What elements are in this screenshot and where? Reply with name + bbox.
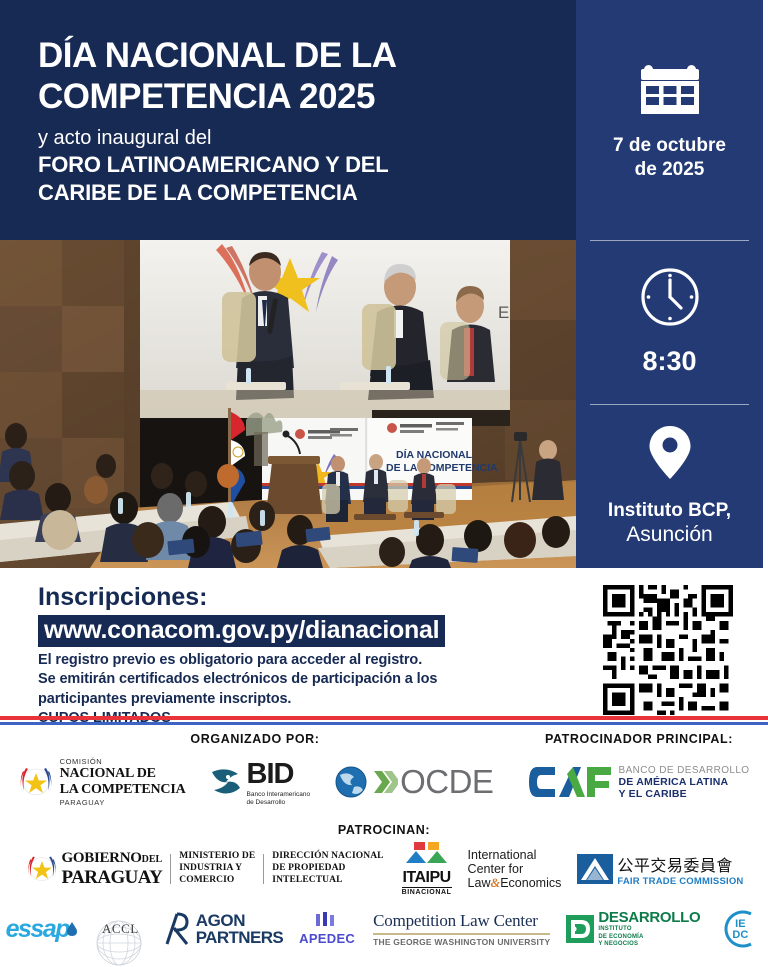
itaipu-sub-text: BINACIONAL: [402, 887, 452, 896]
caf-logo: BANCO DE DESARROLLO DE AMÉRICA LATINA Y …: [529, 762, 750, 802]
essap-main-text: essap: [6, 915, 69, 944]
info-time-value: 8:30: [642, 345, 696, 378]
accl-main-text: ACCL: [98, 921, 143, 937]
info-place-line1: Instituto BCP,: [608, 499, 731, 522]
flag-rule-blue: [0, 722, 768, 725]
conacom-emblem-icon: [17, 763, 55, 801]
agon-line1: AGON: [196, 912, 283, 929]
essap-logo: essap: [6, 915, 78, 944]
icle-line1: International: [468, 848, 562, 862]
itaipu-mark-icon: [404, 842, 450, 864]
iedc-line2: DC: [718, 930, 762, 941]
dinapi-logo: DIRECCIÓN NACIONAL DE PROPIEDAD INTELECT…: [272, 851, 383, 887]
bid-sub-line2: de Desarrollo: [247, 799, 311, 807]
info-time: 8:30: [576, 240, 763, 404]
info-date-line1: 7 de octubre: [613, 134, 726, 157]
gobierno-line1: GOBIERNO: [62, 850, 142, 866]
icle-line2: Center for: [468, 862, 562, 876]
bid-logo: BID Banco Interamericano de Desarrollo: [208, 758, 311, 806]
itaipu-logo: ITAIPU BINACIONAL: [402, 842, 452, 896]
bid-main-text: BID: [247, 758, 311, 791]
info-date-line2: de 2025: [635, 158, 705, 181]
conacom-line-small: COMISIÓN: [60, 757, 186, 766]
registration-body-line2: Se emitirán certificados electrónicos de…: [38, 670, 560, 689]
paraguay-emblem-icon: [25, 852, 59, 886]
subtitle-bold-line1: FORO LATINOAMERICANO Y DEL: [38, 151, 546, 179]
registration-body-line3: participantes previamente inscriptos.: [38, 690, 560, 709]
location-pin-icon: [647, 424, 693, 487]
registration-url[interactable]: www.conacom.gov.py/dianacional: [38, 615, 445, 648]
organized-by-heading: ORGANIZADO POR:: [0, 732, 510, 746]
ocde-logo: OCDE: [332, 763, 493, 801]
gobierno-line2: PARAGUAY: [62, 867, 163, 889]
agon-partners-logo: AGON PARTNERS: [161, 912, 283, 947]
subtitle-bold-line2: CARIBE DE LA COMPETENCIA: [38, 179, 546, 207]
jftc-en-text: FAIR TRADE COMMISSION: [617, 876, 743, 887]
desarrollo-mark-icon: [566, 915, 594, 943]
conacom-logo: COMISIÓN NACIONAL DE LA COMPETENCIA PARA…: [17, 757, 186, 807]
clc-line2: THE GEORGE WASHINGTON UNIVERSITY: [373, 933, 550, 947]
agon-mark-icon: [161, 912, 193, 946]
caf-line1: BANCO DE DESARROLLO: [619, 765, 750, 776]
info-place-line2: Asunción: [626, 522, 712, 548]
svg-text:DÍA NACIONAL: DÍA NACIONAL: [396, 448, 473, 461]
mic-logo: MINISTERIO DE INDUSTRIA Y COMERCIO: [179, 851, 255, 887]
dinapi-line1: DIRECCIÓN NACIONAL: [272, 851, 383, 863]
flag-rule-red: [0, 716, 768, 720]
gwu-competition-law-center-logo: Competition Law Center THE GEORGE WASHIN…: [373, 911, 550, 947]
sponsors-row-1: GOBIERNODEL PARAGUAY MINISTERIO DE INDUS…: [0, 841, 768, 897]
apedec-logo: APEDEC: [299, 912, 355, 946]
desarrollo-sub-line2: DE ECONOMÍA: [598, 934, 700, 942]
accl-logo: ACCL: [98, 921, 143, 937]
desarrollo-logo: DESARROLLO INSTITUTO DE ECONOMÍA Y NEGOC…: [566, 909, 700, 949]
qr-code[interactable]: [603, 585, 733, 715]
caf-line3: Y EL CARIBE: [619, 788, 750, 800]
mic-line1: MINISTERIO DE: [179, 851, 255, 863]
mic-line3: COMERCIO: [179, 875, 255, 887]
jftc-logo: 公平交易委員會 FAIR TRADE COMMISSION: [577, 852, 743, 887]
dinapi-line3: INTELECTUAL: [272, 875, 383, 887]
divider: [170, 854, 171, 884]
svg-text:E: E: [498, 303, 509, 322]
conacom-line-bottom: PARAGUAY: [60, 798, 186, 807]
conacom-line1: NACIONAL DE: [60, 766, 186, 782]
calendar-icon: [639, 59, 701, 122]
agon-line2: PARTNERS: [196, 929, 283, 946]
clock-icon: [639, 266, 701, 333]
main-sponsor-logo: BANCO DE DESARROLLO DE AMÉRICA LATINA Y …: [510, 751, 768, 813]
info-date: 7 de octubre de 2025: [576, 0, 763, 240]
sponsors-section: ORGANIZADO POR: PATROCINADOR PRINCIPAL: …: [0, 727, 768, 961]
registration-heading: Inscripciones:: [38, 584, 560, 612]
info-place: Instituto BCP, Asunción: [576, 404, 763, 568]
event-info-panel: 7 de octubre de 2025 8:30: [576, 0, 763, 568]
poster-header: DÍA NACIONAL DE LA COMPETENCIA 2025 y ac…: [0, 0, 576, 240]
sponsors-row-2: essap ACCL: [0, 901, 768, 957]
event-poster: DÍA NACIONAL DE LA COMPETENCIA 2025 y ac…: [0, 0, 768, 961]
gobierno-paraguay-logo: GOBIERNODEL PARAGUAY: [25, 849, 163, 889]
apedec-main-text: APEDEC: [299, 931, 355, 946]
dinapi-line2: DE PROPIEDAD: [272, 863, 383, 875]
desarrollo-sub-line3: Y NEGOCIOS: [598, 941, 700, 949]
mic-line2: INDUSTRIA Y: [179, 863, 255, 875]
subtitle-light: y acto inaugural del: [38, 125, 546, 151]
icle-ampersand: &: [490, 876, 500, 890]
jftc-cn-text: 公平交易委員會: [617, 852, 743, 876]
page-title-line2: COMPETENCIA 2025: [38, 77, 546, 118]
divider: [263, 854, 264, 884]
main-sponsor-heading: PATROCINADOR PRINCIPAL:: [510, 732, 768, 746]
svg-text:DE LA COMPETENCIA: DE LA COMPETENCIA: [386, 462, 498, 474]
desarrollo-sub-line1: INSTITUTO: [598, 926, 700, 934]
desarrollo-main-text: DESARROLLO: [598, 909, 700, 926]
icle-line3c: Economics: [500, 876, 561, 890]
caf-line2: DE AMÉRICA LATINA: [619, 776, 750, 788]
gobierno-del: DEL: [142, 854, 163, 865]
clc-line1: Competition Law Center: [373, 911, 550, 931]
ocde-globe-icon: [332, 763, 370, 801]
icle-line3a: Law: [468, 876, 491, 890]
event-photo: E DÍA: [0, 240, 576, 568]
icle-logo: International Center for Law&Economics: [468, 848, 562, 891]
essap-drop-icon: [66, 921, 78, 937]
iedc-logo: IE DC: [718, 908, 762, 950]
conacom-line2: LA COMPETENCIA: [60, 782, 186, 798]
bid-sub-line1: Banco Interamericano: [247, 791, 311, 799]
caf-mark-icon: [529, 762, 611, 802]
registration-body-line1: El registro previo es obligatorio para a…: [38, 651, 560, 670]
bid-mark-icon: [208, 764, 244, 800]
itaipu-main-text: ITAIPU: [402, 869, 452, 887]
organized-by-logos: COMISIÓN NACIONAL DE LA COMPETENCIA PARA…: [0, 751, 510, 813]
apedec-bars-icon: [314, 912, 340, 926]
ocde-chevrons-icon: [372, 767, 398, 797]
jftc-mark-icon: [577, 854, 613, 884]
page-title-line1: DÍA NACIONAL DE LA: [38, 36, 546, 77]
ocde-main-text: OCDE: [400, 763, 493, 801]
sponsors-heading: PATROCINAN:: [0, 823, 768, 837]
